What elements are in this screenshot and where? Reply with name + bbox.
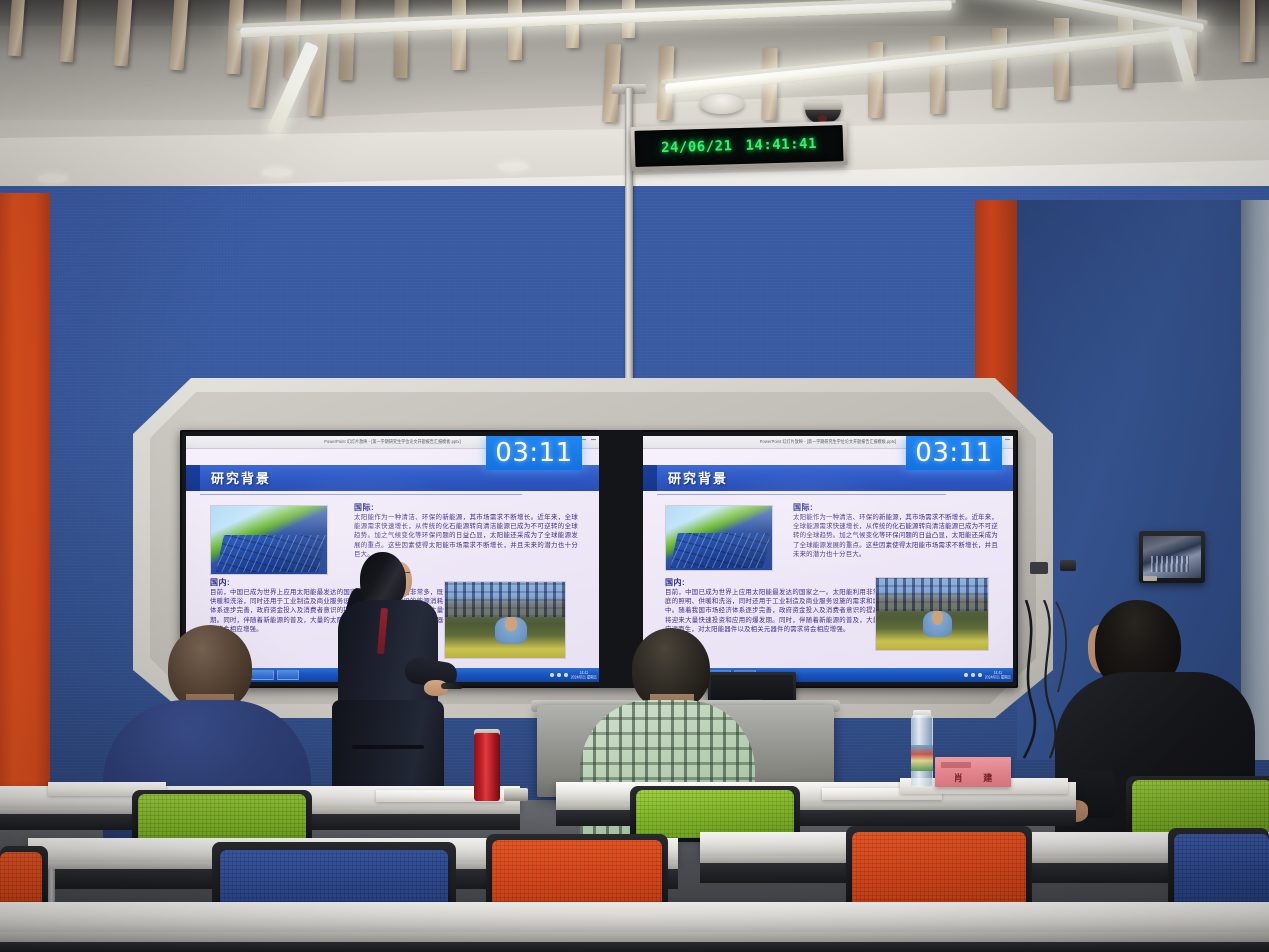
presenter-belt xyxy=(352,745,424,749)
tray-volume-icon[interactable] xyxy=(971,673,975,677)
placard-logo xyxy=(941,762,971,768)
left-slide-title-rule xyxy=(200,494,522,495)
chair-mesh-texture xyxy=(138,794,306,844)
led-clock-sign: 24/06/21 14:41:41 xyxy=(630,121,847,171)
left-countdown-timer: 03:11 xyxy=(486,436,582,470)
presentation-room-scene: 24/06/21 14:41:41 PowerPoint 幻灯片放映 - [第一… xyxy=(0,0,1269,952)
recessed-downlight-icon xyxy=(38,174,68,183)
chair-mesh-texture xyxy=(1132,780,1269,834)
placard-name-text: 肖 建 xyxy=(945,771,1002,784)
wall-monitor[interactable] xyxy=(1139,531,1205,583)
ceiling-speaker-icon xyxy=(700,94,744,114)
led-time: 14:41:41 xyxy=(745,136,817,154)
ceiling-wood-slat xyxy=(393,0,408,78)
chair-green[interactable] xyxy=(1132,780,1269,834)
recessed-downlight-icon xyxy=(498,162,528,171)
chair-green[interactable] xyxy=(138,794,306,844)
orange-pillar-left xyxy=(0,193,50,818)
right-photo-farm-worker xyxy=(875,577,989,651)
taskbar-date: 2024/6/21 星期五 xyxy=(985,675,1011,680)
chair-mesh-texture xyxy=(852,832,1026,908)
right-photo-solar-panels xyxy=(665,505,773,571)
taskbar-clock[interactable]: 14:41 2024/6/21 星期五 xyxy=(985,670,1011,680)
taskbar-clock[interactable]: 14:41 2024/6/21 星期五 xyxy=(571,670,597,680)
wall-corner-right xyxy=(1241,200,1269,760)
chair-mesh-texture xyxy=(1174,834,1269,910)
dome-camera-icon xyxy=(805,101,841,123)
small-tin-container[interactable] xyxy=(504,788,528,801)
right-slide-title: 研究背景 xyxy=(668,468,728,487)
red-thermos[interactable] xyxy=(474,733,500,801)
chair-blue[interactable] xyxy=(1174,834,1269,910)
tray-network-icon[interactable] xyxy=(550,673,554,677)
ceiling-wood-slat xyxy=(339,0,356,80)
chair-orange[interactable] xyxy=(852,832,1026,908)
wall-monitor-brand-badge xyxy=(1143,576,1157,581)
ceiling-wood-slat xyxy=(1240,0,1255,62)
photo-person-figure xyxy=(495,617,526,644)
right-section-label-international: 国际: xyxy=(793,502,813,513)
ceiling-wood-slat xyxy=(508,0,522,60)
system-tray[interactable]: 14:41 2024/6/21 星期五 xyxy=(550,671,597,679)
photo-person-figure xyxy=(923,611,952,637)
wall-outlet-icon xyxy=(1060,560,1076,571)
left-photo-farm-worker xyxy=(444,581,566,659)
taskbar-date: 2024/6/21 星期五 xyxy=(571,675,597,680)
ceiling-wood-slat xyxy=(1054,18,1069,100)
taskbar-item[interactable] xyxy=(277,670,299,680)
system-tray[interactable]: 14:41 2024/6/21 星期五 xyxy=(964,671,1011,679)
tray-volume-icon[interactable] xyxy=(557,673,561,677)
left-section-label-international: 国际: xyxy=(354,502,374,513)
ceiling-wood-slat xyxy=(452,0,466,70)
name-placard: 肖 建 xyxy=(935,757,1011,787)
tray-network-icon[interactable] xyxy=(964,673,968,677)
wall-monitor-screen xyxy=(1143,536,1201,578)
left-photo-solar-panels xyxy=(210,505,328,575)
cable-clip-icon xyxy=(1028,560,1050,576)
right-countdown-timer: 03:11 xyxy=(906,436,1002,470)
presentation-clicker[interactable] xyxy=(441,683,463,689)
left-section-label-domestic: 国内: xyxy=(210,577,230,588)
left-slide-title: 研究背景 xyxy=(211,468,271,487)
chair-mesh-texture xyxy=(636,790,794,838)
chair-green[interactable] xyxy=(636,790,794,838)
tray-ime-icon[interactable] xyxy=(564,673,568,677)
right-slide-title-rule xyxy=(657,494,946,495)
ceiling-wood-slat xyxy=(868,42,883,118)
desk-row3-front xyxy=(0,902,1269,934)
tray-ime-icon[interactable] xyxy=(978,673,982,677)
led-date: 24/06/21 xyxy=(661,138,733,156)
led-sign-face: 24/06/21 14:41:41 xyxy=(635,125,844,167)
left-ppt-title-text: PowerPoint 幻灯片放映 - [第一学期研究生学位论文开题报告汇报模板.… xyxy=(324,439,461,446)
ceiling-wood-slat xyxy=(930,36,945,114)
water-bottle-label xyxy=(911,745,933,771)
right-section-label-domestic: 国内: xyxy=(665,577,685,588)
desk-underside xyxy=(0,942,1269,952)
ceiling-wood-slat xyxy=(992,28,1007,108)
recessed-downlight-icon xyxy=(262,168,292,177)
ceiling-wood-slat xyxy=(1118,8,1133,88)
right-ppt-title-text: PowerPoint 幻灯片放映 - [第一学期研究生学位论文开题报告汇报模板.… xyxy=(760,439,897,446)
right-section-text-international: 太阳能作为一种清洁、环保的新能源，其市场需求不断增长。近年来，全球能源需求快速增… xyxy=(793,513,998,559)
